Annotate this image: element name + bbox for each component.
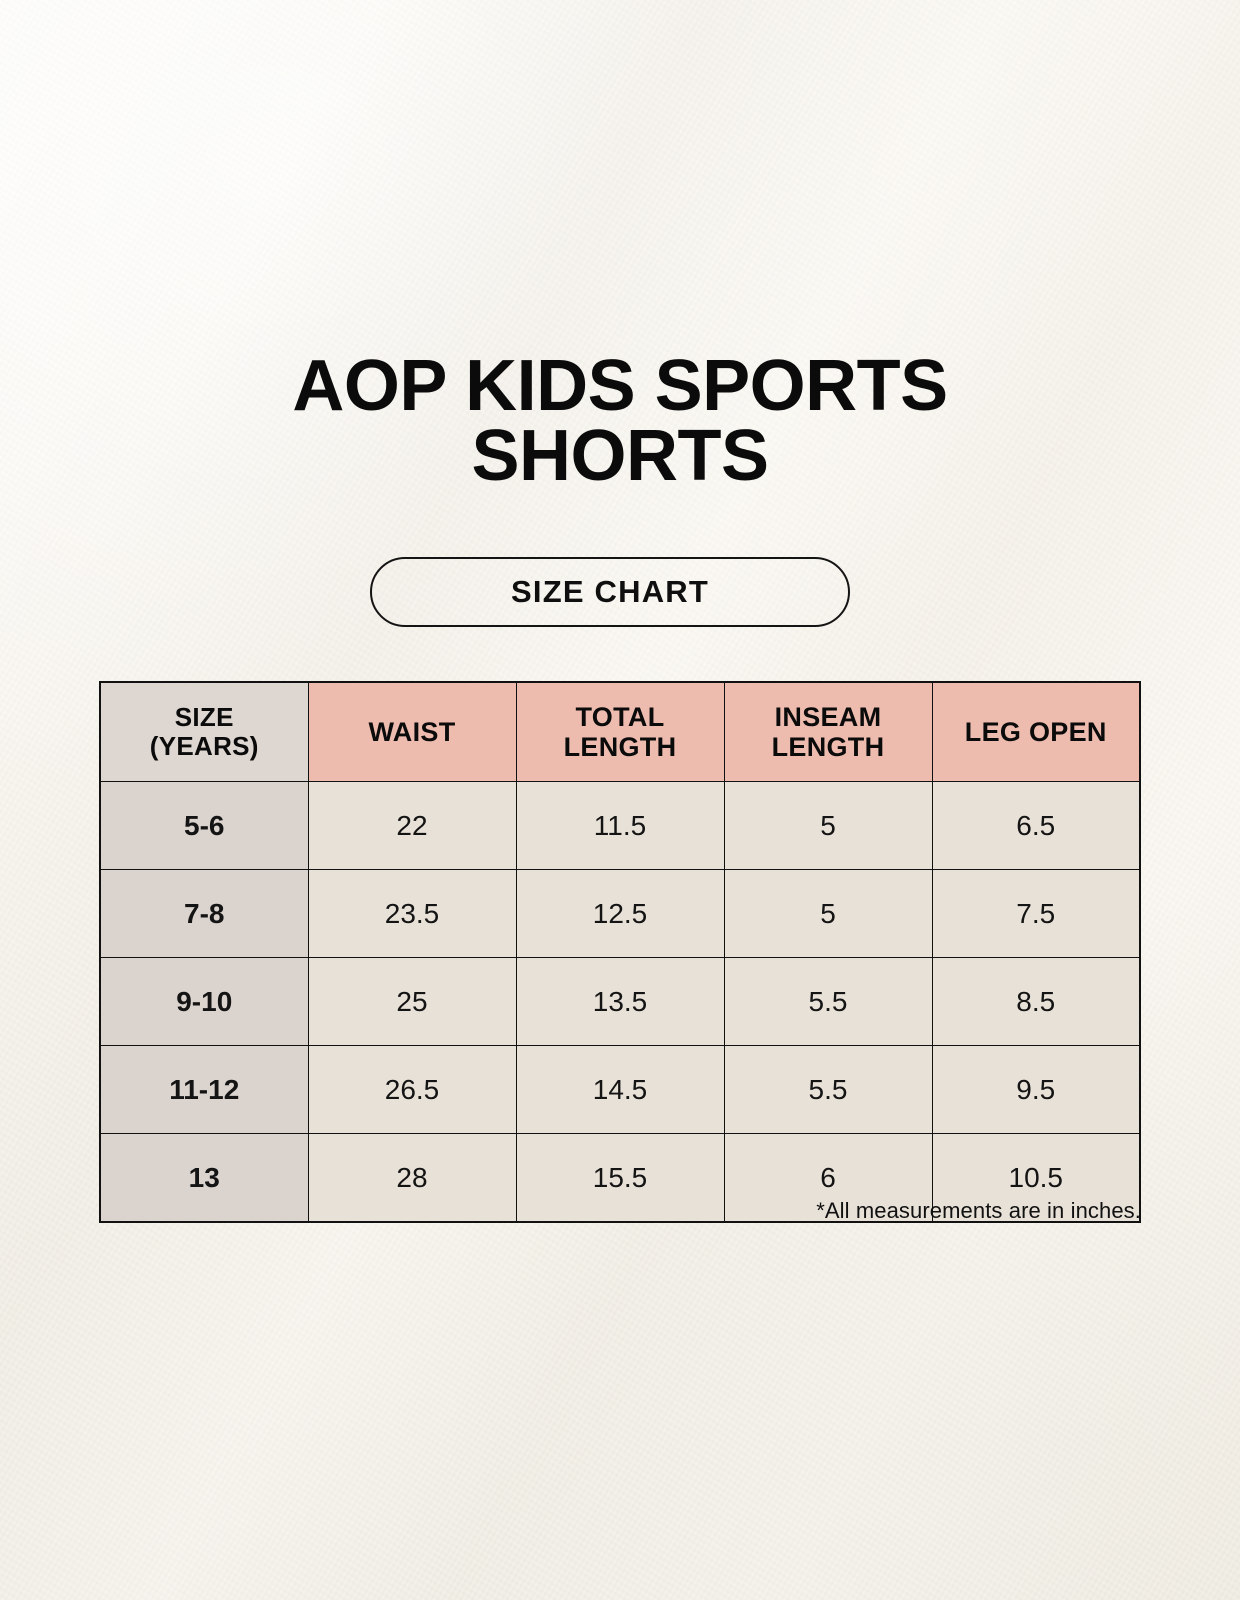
column-header-inseam-length: INSEAM LENGTH — [724, 682, 932, 782]
cell-waist: 26.5 — [308, 1046, 516, 1134]
column-header-size-line2: (YEARS) — [101, 732, 308, 761]
column-header-leg-open-line1: LEG OPEN — [933, 717, 1140, 747]
cell-inseam-length: 5 — [724, 782, 932, 870]
measurement-units-note: *All measurements are in inches. — [99, 1198, 1141, 1224]
cell-leg-open: 9.5 — [932, 1046, 1140, 1134]
page-title: AOP KIDS SPORTS SHORTS — [0, 352, 1240, 492]
cell-leg-open: 6.5 — [932, 782, 1140, 870]
table-row: 5-6 22 11.5 5 6.5 — [100, 782, 1140, 870]
size-chart-content: AOP KIDS SPORTS SHORTS SIZE CHART SIZE (… — [0, 0, 1240, 1600]
table-row: 7-8 23.5 12.5 5 7.5 — [100, 870, 1140, 958]
size-chart-table-wrapper: SIZE (YEARS) WAIST TOTAL LENGTH INSEAM L… — [99, 681, 1141, 1223]
cell-total-length: 12.5 — [516, 870, 724, 958]
table-row: 9-10 25 13.5 5.5 8.5 — [100, 958, 1140, 1046]
cell-waist: 23.5 — [308, 870, 516, 958]
cell-size: 5-6 — [100, 782, 308, 870]
column-header-total-length-line2: LENGTH — [517, 732, 724, 762]
size-chart-badge: SIZE CHART — [370, 557, 850, 627]
cell-leg-open: 7.5 — [932, 870, 1140, 958]
cell-size: 9-10 — [100, 958, 308, 1046]
column-header-inseam-length-line2: LENGTH — [725, 732, 932, 762]
cell-waist: 25 — [308, 958, 516, 1046]
cell-size: 11-12 — [100, 1046, 308, 1134]
cell-inseam-length: 5.5 — [724, 1046, 932, 1134]
cell-total-length: 14.5 — [516, 1046, 724, 1134]
cell-inseam-length: 5.5 — [724, 958, 932, 1046]
cell-total-length: 11.5 — [516, 782, 724, 870]
cell-waist: 22 — [308, 782, 516, 870]
column-header-leg-open: LEG OPEN — [932, 682, 1140, 782]
column-header-waist: WAIST — [308, 682, 516, 782]
size-chart-badge-label: SIZE CHART — [511, 574, 709, 610]
table-body: 5-6 22 11.5 5 6.5 7-8 23.5 12.5 5 7.5 9-… — [100, 782, 1140, 1223]
column-header-total-length: TOTAL LENGTH — [516, 682, 724, 782]
size-chart-table: SIZE (YEARS) WAIST TOTAL LENGTH INSEAM L… — [99, 681, 1141, 1223]
column-header-waist-line1: WAIST — [309, 717, 516, 747]
column-header-size-line1: SIZE — [101, 703, 308, 732]
column-header-total-length-line1: TOTAL — [517, 702, 724, 732]
cell-size: 7-8 — [100, 870, 308, 958]
cell-total-length: 13.5 — [516, 958, 724, 1046]
column-header-size: SIZE (YEARS) — [100, 682, 308, 782]
table-header-row: SIZE (YEARS) WAIST TOTAL LENGTH INSEAM L… — [100, 682, 1140, 782]
column-header-inseam-length-line1: INSEAM — [725, 702, 932, 732]
cell-leg-open: 8.5 — [932, 958, 1140, 1046]
table-row: 11-12 26.5 14.5 5.5 9.5 — [100, 1046, 1140, 1134]
table-header: SIZE (YEARS) WAIST TOTAL LENGTH INSEAM L… — [100, 682, 1140, 782]
cell-inseam-length: 5 — [724, 870, 932, 958]
